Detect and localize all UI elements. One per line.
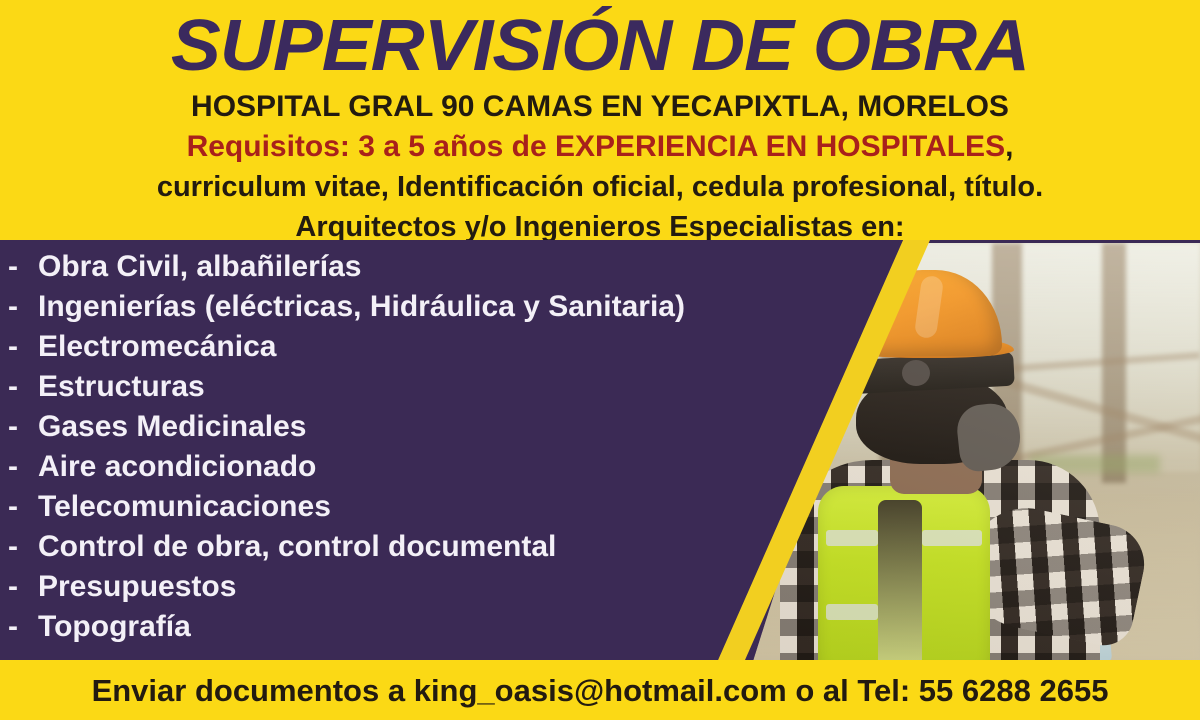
- list-item-label: Obra Civil, albañilerías: [38, 247, 361, 287]
- list-bullet: -: [8, 447, 38, 487]
- list-item-label: Topografía: [38, 607, 191, 647]
- specialists-line: Arquitectos y/o Ingenieros Especialistas…: [0, 213, 1200, 242]
- requirements-text: Requisitos: 3 a 5 años de EXPERIENCIA EN…: [187, 130, 1006, 163]
- specialties-list: -Obra Civil, albañilerías -Ingenierías (…: [0, 243, 780, 660]
- list-item: -Ingenierías (eléctricas, Hidráulica y S…: [8, 287, 780, 327]
- vest-reflective-strip: [922, 530, 982, 546]
- list-item-label: Presupuestos: [38, 567, 236, 607]
- vest-opening: [878, 500, 922, 660]
- list-item: -Electromecánica: [8, 327, 780, 367]
- list-bullet: -: [8, 487, 38, 527]
- list-item: -Control de obra, control documental: [8, 527, 780, 567]
- list-item: -Topografía: [8, 607, 780, 647]
- helmet-strap-knob: [902, 360, 930, 386]
- requirements-line: Requisitos: 3 a 5 años de EXPERIENCIA EN…: [0, 132, 1200, 162]
- list-bullet: -: [8, 367, 38, 407]
- list-item: -Estructuras: [8, 367, 780, 407]
- list-bullet: -: [8, 607, 38, 647]
- contact-line: Enviar documentos a king_oasis@hotmail.c…: [92, 675, 1109, 706]
- list-item-label: Control de obra, control documental: [38, 527, 556, 567]
- list-bullet: -: [8, 567, 38, 607]
- documents-line: curriculum vitae, Identificación oficial…: [0, 173, 1200, 202]
- requirements-comma: ,: [1005, 130, 1013, 163]
- worker-figure: [770, 264, 1100, 660]
- list-item-label: Electromecánica: [38, 327, 276, 367]
- list-item: -Gases Medicinales: [8, 407, 780, 447]
- contact-footer: Enviar documentos a king_oasis@hotmail.c…: [0, 660, 1200, 720]
- list-item-label: Aire acondicionado: [38, 447, 316, 487]
- job-posting-flyer: SUPERVISIÓN DE OBRA HOSPITAL GRAL 90 CAM…: [0, 0, 1200, 720]
- list-item: -Presupuestos: [8, 567, 780, 607]
- vest-reflective-strip: [826, 604, 878, 620]
- list-item: -Aire acondicionado: [8, 447, 780, 487]
- list-bullet: -: [8, 407, 38, 447]
- specialties-panel: -Obra Civil, albañilerías -Ingenierías (…: [0, 240, 1200, 660]
- list-item-label: Estructuras: [38, 367, 205, 407]
- list-bullet: -: [8, 287, 38, 327]
- list-item: -Telecomunicaciones: [8, 487, 780, 527]
- list-item-label: Gases Medicinales: [38, 407, 306, 447]
- flyer-header: SUPERVISIÓN DE OBRA HOSPITAL GRAL 90 CAM…: [0, 0, 1200, 240]
- list-bullet: -: [8, 527, 38, 567]
- construction-worker-photo: [730, 243, 1200, 660]
- page-title: SUPERVISIÓN DE OBRA: [0, 0, 1200, 82]
- list-item-label: Ingenierías (eléctricas, Hidráulica y Sa…: [38, 287, 685, 327]
- list-bullet: -: [8, 247, 38, 287]
- list-item: -Obra Civil, albañilerías: [8, 247, 780, 287]
- vest-reflective-strip: [826, 530, 878, 546]
- project-subtitle: HOSPITAL GRAL 90 CAMAS EN YECAPIXTLA, MO…: [0, 92, 1200, 122]
- list-item-label: Telecomunicaciones: [38, 487, 331, 527]
- list-bullet: -: [8, 327, 38, 367]
